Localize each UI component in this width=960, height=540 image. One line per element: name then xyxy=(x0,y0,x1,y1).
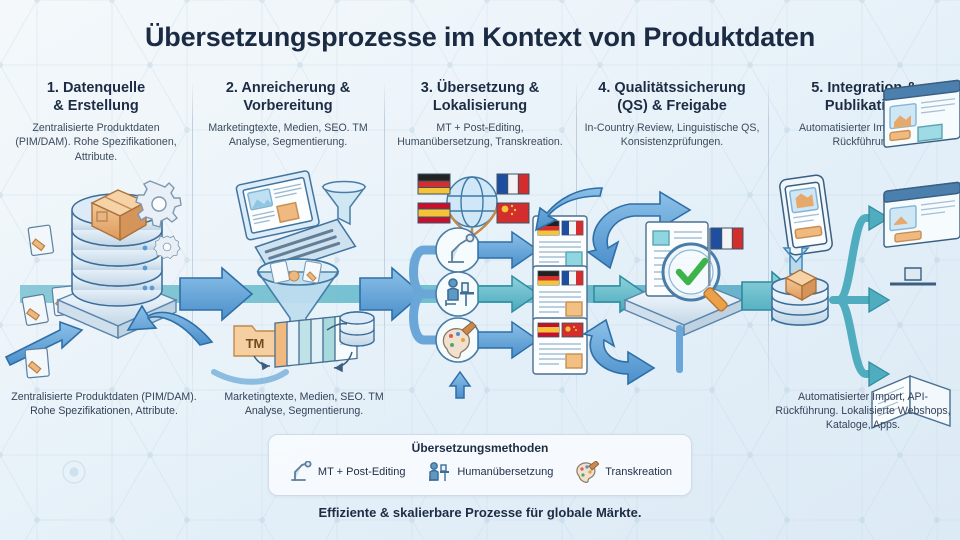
legend-label-transcreation: Transkreation xyxy=(605,466,672,478)
stage-1-heading: 1. Datenquelle & Erstellung xyxy=(6,78,186,115)
stage-2-description: Marketingtexte, Medien, SEO. TM Analyse,… xyxy=(198,121,378,149)
legend-item-mt: MT + Post-Editing xyxy=(288,461,406,483)
legend-label-mt: MT + Post-Editing xyxy=(318,466,406,478)
footer-tagline: Effiziente & skalierbare Prozesse für gl… xyxy=(0,505,960,520)
legend-items: MT + Post-Editing Humanübersetzung xyxy=(269,461,691,483)
translator-person-icon xyxy=(427,461,451,483)
page-title: Übersetzungsprozesse im Kontext von Prod… xyxy=(0,22,960,53)
stage-3-heading: 3. Übersetzung & Lokalisierung xyxy=(390,78,570,115)
stage-5-heading: 5. Integration & Publikation xyxy=(774,78,954,115)
stage-5-caption: Automatisierter Import, API-Rückführung.… xyxy=(772,390,954,433)
robot-arm-icon xyxy=(288,461,312,483)
legend-panel: Übersetzungsmethoden MT + Post-Editing xyxy=(268,434,692,496)
palette-icon xyxy=(575,461,599,483)
stage-columns: 1. Datenquelle & Erstellung Zentralisier… xyxy=(0,78,960,428)
stage-column-2: 2. Anreicherung & Vorbereitung Marketing… xyxy=(192,78,384,428)
stage-3-description: MT + Post-Editing, Humanübersetzung, Tra… xyxy=(390,121,570,149)
legend-label-human: Humanübersetzung xyxy=(457,466,553,478)
stage-1-caption: Zentralisierte Produktdaten (PIM/DAM). R… xyxy=(6,390,202,418)
stage-4-description: In-Country Review, Linguistische QS, Kon… xyxy=(582,121,762,149)
stage-column-3: 3. Übersetzung & Lokalisierung MT + Post… xyxy=(384,78,576,428)
stage-2-caption: Marketingtexte, Medien, SEO. TM Analyse,… xyxy=(206,390,402,418)
stage-5-description: Automatisierter Import, API-Rückführung. xyxy=(774,121,954,149)
infographic-canvas: Übersetzungsprozesse im Kontext von Prod… xyxy=(0,0,960,540)
legend-item-human: Humanübersetzung xyxy=(427,461,553,483)
stage-column-4: 4. Qualitätssicherung (QS) & Freigabe In… xyxy=(576,78,768,428)
stage-column-1: 1. Datenquelle & Erstellung Zentralisier… xyxy=(0,78,192,428)
legend-title: Übersetzungsmethoden xyxy=(269,441,691,455)
stage-1-description: Zentralisierte Produktdaten (PIM/DAM). R… xyxy=(6,121,186,163)
stage-2-heading: 2. Anreicherung & Vorbereitung xyxy=(198,78,378,115)
legend-item-transcreation: Transkreation xyxy=(575,461,672,483)
stage-column-5: 5. Integration & Publikation Automatisie… xyxy=(768,78,960,428)
stage-4-heading: 4. Qualitätssicherung (QS) & Freigabe xyxy=(582,78,762,115)
